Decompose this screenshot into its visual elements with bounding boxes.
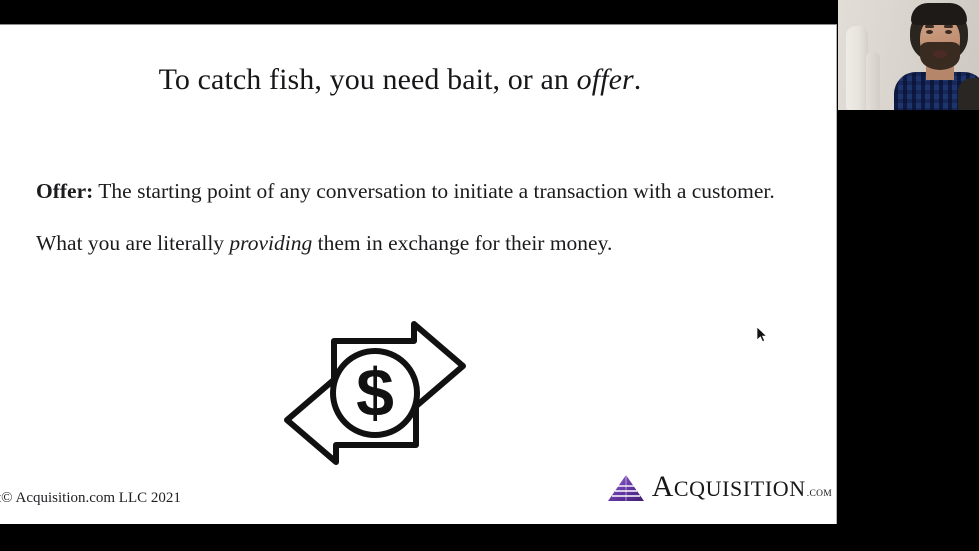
slide-body-lead: Offer: bbox=[36, 179, 93, 203]
presenter-beanie bbox=[911, 3, 967, 25]
acquisition-wordmark: ACQUISITION.COM bbox=[652, 472, 832, 502]
presentation-slide: To catch fish, you need bait, or an offe… bbox=[0, 24, 837, 524]
wordmark-domain: .COM bbox=[807, 490, 832, 500]
slide-body-emphasis: providing bbox=[229, 231, 312, 255]
slide-body-paragraph: Offer: The starting point of any convers… bbox=[36, 165, 796, 269]
presenter-mouth bbox=[933, 50, 947, 58]
webcam-background-object-secondary bbox=[866, 52, 880, 110]
slide-title-text-b: . bbox=[634, 63, 642, 96]
screen-recording-frame: To catch fish, you need bait, or an offe… bbox=[0, 0, 979, 551]
webcam-background-object bbox=[846, 26, 868, 110]
presenter-webcam-video[interactable] bbox=[838, 0, 979, 110]
presenter-eyebrow-right bbox=[944, 25, 953, 28]
money-exchange-arrows-icon: $ bbox=[277, 313, 473, 473]
pyramid-icon bbox=[606, 474, 646, 502]
presenter-eye-right bbox=[945, 30, 952, 34]
presenter-eye-left bbox=[926, 30, 933, 34]
wordmark-capital: A bbox=[652, 472, 674, 502]
presenter-eyebrow-left bbox=[925, 25, 934, 28]
acquisition-logo: ACQUISITION.COM bbox=[606, 468, 832, 502]
wordmark-body: CQUISITION bbox=[674, 478, 806, 500]
slide-title-emphasis: offer bbox=[577, 63, 634, 96]
mouse-cursor-icon bbox=[756, 326, 768, 344]
slide-title-text-a: To catch fish, you need bait, or an bbox=[159, 63, 577, 96]
presenter-shoulder bbox=[958, 78, 979, 110]
dollar-sign-glyph: $ bbox=[356, 355, 394, 431]
slide-title: To catch fish, you need bait, or an offe… bbox=[0, 63, 800, 98]
slide-body-text-b: them in exchange for their money. bbox=[312, 231, 612, 255]
copyright-notice: ght© Acquisition.com LLC 2021 bbox=[0, 490, 181, 507]
